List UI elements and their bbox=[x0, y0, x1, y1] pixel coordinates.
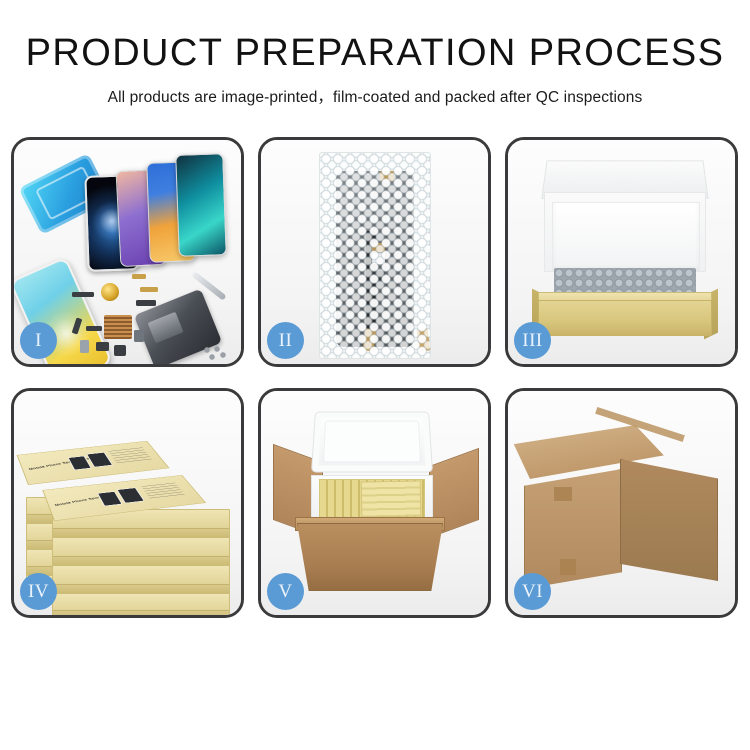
process-step-grid: I II bbox=[11, 137, 739, 618]
packed-units-graphic bbox=[361, 480, 422, 517]
box-spec-lines bbox=[141, 483, 184, 499]
box-front-graphic bbox=[538, 300, 712, 336]
process-step-panel-2: II bbox=[258, 137, 491, 367]
white-foam-sheet-graphic bbox=[552, 202, 700, 272]
carton-face-right-graphic bbox=[620, 459, 718, 581]
stacked-box bbox=[52, 537, 230, 567]
step-badge-5: V bbox=[267, 573, 304, 610]
screws-graphic bbox=[204, 346, 228, 360]
process-step-panel-6: VI bbox=[505, 388, 738, 618]
spare-part-graphic bbox=[134, 330, 144, 342]
step-badge-6: VI bbox=[514, 573, 551, 610]
flex-cable-part-graphic bbox=[140, 287, 158, 292]
step-badge-4: IV bbox=[20, 573, 57, 610]
process-step-panel-5: V bbox=[258, 388, 491, 618]
page-title: PRODUCT PREPARATION PROCESS bbox=[0, 34, 750, 72]
process-step-panel-3: III bbox=[505, 137, 738, 367]
spare-part-graphic bbox=[114, 345, 126, 356]
phone-teal-graphic bbox=[175, 153, 227, 257]
chip-grid-part-graphic bbox=[104, 315, 132, 339]
carton-tape-graphic bbox=[554, 487, 572, 501]
stacked-box bbox=[52, 565, 230, 595]
bubble-wrap-bag-graphic bbox=[319, 152, 431, 359]
spare-part-graphic bbox=[136, 300, 156, 306]
step-badge-3: III bbox=[514, 322, 551, 359]
step-badge-2: II bbox=[267, 322, 304, 359]
spare-part-graphic bbox=[86, 326, 102, 331]
page-header: PRODUCT PREPARATION PROCESS All products… bbox=[0, 0, 750, 107]
bubble-texture-graphic bbox=[320, 153, 430, 358]
box-spec-lines bbox=[108, 447, 151, 463]
stacked-box bbox=[52, 593, 230, 618]
flex-cable-part-graphic bbox=[132, 274, 146, 279]
box-stack-graphic: Mobile Phone Spare Parts Mobile Phone Sp… bbox=[26, 409, 231, 604]
gold-coil-part-graphic bbox=[101, 283, 119, 301]
spare-part-graphic bbox=[96, 342, 109, 351]
spare-part-graphic bbox=[80, 340, 89, 353]
spare-part-graphic bbox=[72, 292, 94, 297]
process-step-panel-4: Mobile Phone Spare Parts Mobile Phone Sp… bbox=[11, 388, 244, 618]
carton-tape-graphic bbox=[560, 559, 576, 575]
process-step-panel-1: I bbox=[11, 137, 244, 367]
carton-body-graphic bbox=[297, 523, 443, 591]
foam-lid-graphic bbox=[311, 412, 433, 473]
step-badge-1: I bbox=[20, 322, 57, 359]
page-subtitle: All products are image-printed，film-coat… bbox=[0, 85, 750, 107]
